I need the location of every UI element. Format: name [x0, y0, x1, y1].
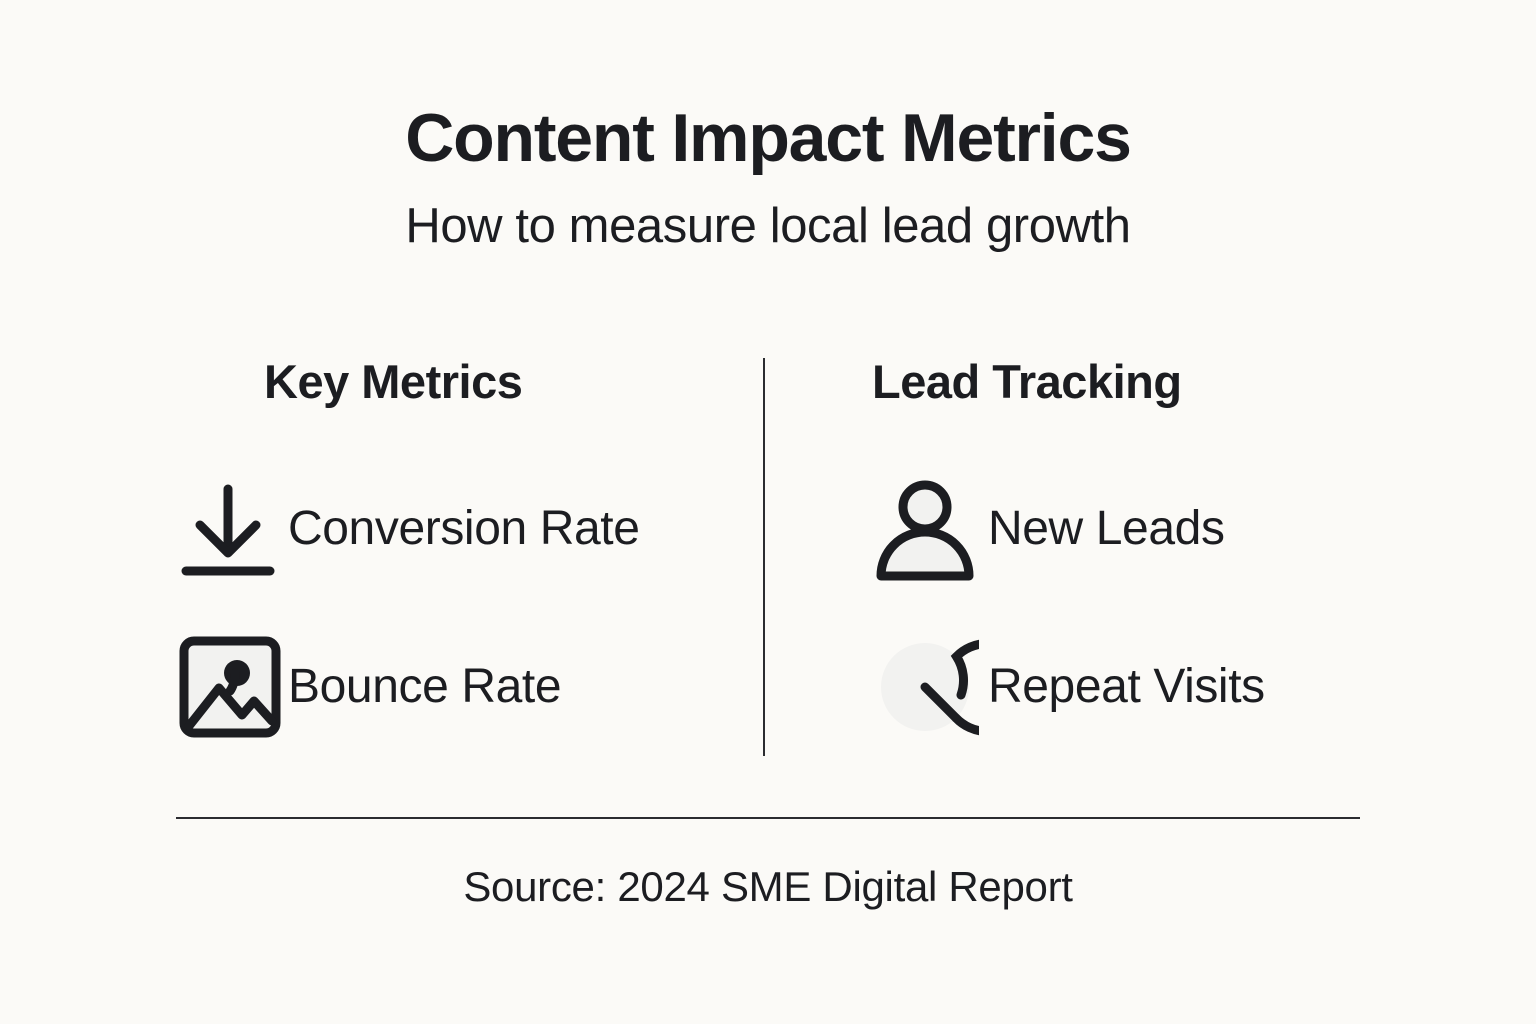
metric-label: Bounce Rate	[288, 663, 561, 711]
column-divider	[763, 358, 765, 756]
metric-label: New Leads	[988, 505, 1225, 553]
page-subtitle: How to measure local lead growth	[0, 202, 1536, 251]
metric-row-conversion-rate: Conversion Rate	[176, 474, 640, 584]
metric-row-bounce-rate: Bounce Rate	[176, 632, 561, 742]
metric-row-new-leads: New Leads	[862, 474, 1225, 584]
metric-label: Repeat Visits	[988, 663, 1265, 711]
column-heading-key-metrics: Key Metrics	[264, 358, 522, 405]
image-icon	[176, 632, 288, 742]
metric-row-repeat-visits: Repeat Visits	[862, 632, 1265, 742]
column-heading-lead-tracking: Lead Tracking	[872, 358, 1182, 405]
footer-divider	[176, 817, 1360, 819]
download-arrow-icon	[176, 474, 288, 584]
page-title: Content Impact Metrics	[0, 104, 1536, 172]
pie-chart-icon	[862, 632, 988, 742]
source-caption: Source: 2024 SME Digital Report	[0, 866, 1536, 908]
metric-label: Conversion Rate	[288, 505, 640, 553]
infographic-canvas: Content Impact Metrics How to measure lo…	[0, 0, 1536, 1024]
person-icon	[862, 474, 988, 584]
